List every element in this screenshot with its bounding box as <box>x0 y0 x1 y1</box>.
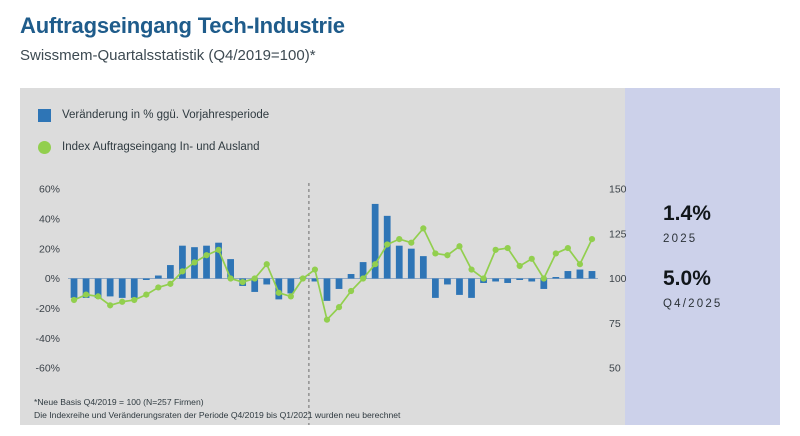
svg-text:75: 75 <box>609 318 621 330</box>
stat-yearly-label: 2025 <box>663 233 711 245</box>
svg-text:50: 50 <box>609 363 621 375</box>
stat-quarterly-label: Q4/2025 <box>663 298 723 310</box>
svg-text:0%: 0% <box>45 273 60 285</box>
svg-text:40%: 40% <box>39 213 60 225</box>
svg-text:60%: 60% <box>39 184 60 196</box>
svg-text:-20%: -20% <box>35 303 60 315</box>
footnote-line-2: Die Indexreihe und Veränderungsraten der… <box>34 409 594 422</box>
svg-text:150: 150 <box>609 184 627 196</box>
chart-svg: -60%-40%-20%0%20%40%60%50751001251502015… <box>20 88 628 425</box>
stat-yearly: 1.4% 2025 <box>663 203 711 245</box>
footnotes: *Neue Basis Q4/2019 = 100 (N=257 Firmen)… <box>34 396 594 422</box>
footnote-line-1: *Neue Basis Q4/2019 = 100 (N=257 Firmen) <box>34 396 594 409</box>
highlight-panel-background <box>625 88 780 425</box>
svg-text:20%: 20% <box>39 243 60 255</box>
page-title: Auftragseingang Tech-Industrie <box>20 13 345 39</box>
svg-text:-40%: -40% <box>35 333 60 345</box>
stat-yearly-value: 1.4% <box>663 203 711 224</box>
page-subtitle: Swissmem-Quartalsstatistik (Q4/2019=100)… <box>20 47 316 64</box>
svg-text:-60%: -60% <box>35 363 60 375</box>
svg-text:100: 100 <box>609 273 627 285</box>
stat-quarterly: 5.0% Q4/2025 <box>663 268 723 310</box>
stat-quarterly-value: 5.0% <box>663 268 723 289</box>
svg-text:125: 125 <box>609 228 627 240</box>
plot-area: -60%-40%-20%0%20%40%60%50751001251502015… <box>20 88 628 425</box>
chart-page: Auftragseingang Tech-Industrie Swissmem-… <box>0 0 800 436</box>
